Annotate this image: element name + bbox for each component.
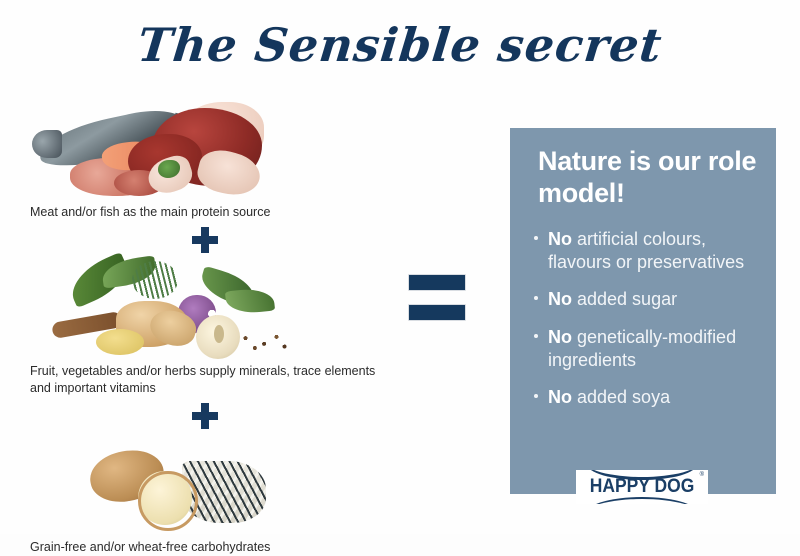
claims-list: No artificial colours, flavours or prese… (534, 228, 770, 424)
list-item: No genetically-modified ingredients (534, 326, 770, 371)
seeds-icon (230, 327, 292, 355)
ingredient-caption-1: Meat and/or fish as the main protein sou… (30, 204, 380, 221)
infographic-canvas: The Sensible secret Meat and/or fish as … (0, 0, 800, 534)
apple-core-icon (214, 325, 224, 343)
equals-bar-bottom (408, 304, 466, 321)
salmon-head-icon (32, 130, 62, 158)
bullet-dot-icon (534, 394, 538, 398)
bullet-dot-icon (534, 334, 538, 338)
logo-arc-bottom-icon (584, 497, 700, 504)
yellow-tuber-icon (96, 329, 144, 355)
list-item: No artificial colours, flavours or prese… (534, 228, 770, 273)
registered-mark: ® (700, 472, 704, 478)
photo-potatoes-and-rice (30, 435, 380, 535)
list-item: No added soya (534, 386, 770, 409)
plus-operator-1 (192, 227, 218, 253)
list-item: No added sugar (534, 288, 770, 311)
page-title: The Sensible secret (0, 18, 800, 72)
claim-emphasis: No (548, 289, 572, 309)
claims-panel: Nature is our role model! No artificial … (510, 128, 776, 494)
potato-half-skin-icon (138, 471, 198, 531)
claim-emphasis: No (548, 327, 572, 347)
claim-text: artificial colours, flavours or preserva… (548, 229, 744, 272)
claim-text: added sugar (572, 289, 677, 309)
claim-text: genetically-modified ingredients (548, 327, 736, 370)
rosemary-sprig-icon (132, 261, 178, 299)
happy-dog-logo: HAPPY DOG ® (576, 470, 708, 504)
logo-wordmark: HAPPY DOG (581, 476, 702, 498)
ingredients-column: Meat and/or fish as the main protein sou… (30, 100, 380, 556)
claim-emphasis: No (548, 229, 572, 249)
photo-fruit-vegetables-herbs (30, 259, 380, 359)
claim-emphasis: No (548, 387, 572, 407)
photo-raw-meat-and-fish (30, 100, 380, 200)
equals-operator (408, 274, 466, 321)
ingredient-caption-2: Fruit, vegetables and/or herbs supply mi… (30, 363, 380, 397)
bullet-dot-icon (534, 296, 538, 300)
bullet-dot-icon (534, 236, 538, 240)
equals-bar-top (408, 274, 466, 291)
panel-heading: Nature is our role model! (538, 146, 758, 210)
claim-text: added soya (572, 387, 670, 407)
ingredient-caption-3: Grain-free and/or wheat-free carbohydrat… (30, 539, 380, 556)
plus-operator-2 (192, 403, 218, 429)
